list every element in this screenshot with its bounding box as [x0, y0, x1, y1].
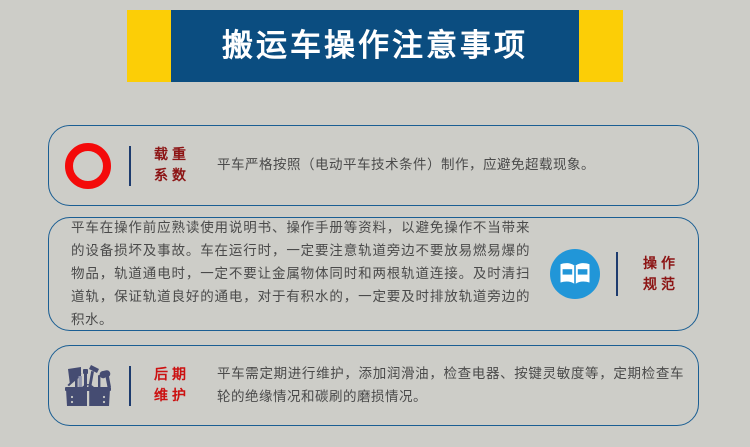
- card-tag-line-2: 规范: [639, 278, 679, 292]
- divider: [129, 146, 131, 186]
- card-tag: 操作 规范: [620, 257, 698, 292]
- card-tag-line-2: 维护: [150, 389, 190, 403]
- card-tag-line-1: 载重: [150, 148, 190, 162]
- header-accent-bar-right: [579, 10, 623, 82]
- header-title-plate: 搬运车操作注意事项: [171, 10, 579, 82]
- card-tag-line-1: 后期: [150, 368, 190, 382]
- card-later-maintenance: 后期 维护 平车需定期进行维护，添加润滑油，检查电器、按键灵敏度等，定期检查车轮…: [48, 345, 699, 426]
- card-load-factor: 载重 系数 平车严格按照（电动平车技术条件）制作，应避免超载现象。: [48, 125, 699, 206]
- card-tag: 载重 系数: [133, 148, 207, 183]
- card-tag-line-2: 系数: [150, 169, 190, 183]
- icon-slot: [536, 249, 614, 299]
- card-tag: 后期 维护: [133, 368, 207, 403]
- card-operation-standard: 平车在操作前应熟读使用说明书、操作手册等资料，以避免操作不当带来的设备损坏及事故…: [48, 217, 699, 331]
- toolbox-icon: [61, 361, 115, 411]
- open-book-icon: [550, 249, 600, 299]
- icon-slot: [49, 143, 127, 189]
- card-tag-line-1: 操作: [639, 257, 679, 271]
- divider: [129, 366, 131, 406]
- red-ring-icon: [65, 143, 111, 189]
- card-body-text: 平车需定期进行维护，添加润滑油，检查电器、按键灵敏度等，定期检查车轮的绝缘情况和…: [207, 363, 698, 409]
- page-title: 搬运车操作注意事项: [222, 31, 528, 62]
- icon-slot: [49, 361, 127, 411]
- card-body-text: 平车在操作前应熟读使用说明书、操作手册等资料，以避免操作不当带来的设备损坏及事故…: [49, 217, 536, 332]
- card-body-text: 平车严格按照（电动平车技术条件）制作，应避免超载现象。: [207, 154, 698, 177]
- header-accent-bar-left: [127, 10, 171, 82]
- divider: [616, 252, 618, 296]
- page-header: 搬运车操作注意事项: [0, 10, 750, 82]
